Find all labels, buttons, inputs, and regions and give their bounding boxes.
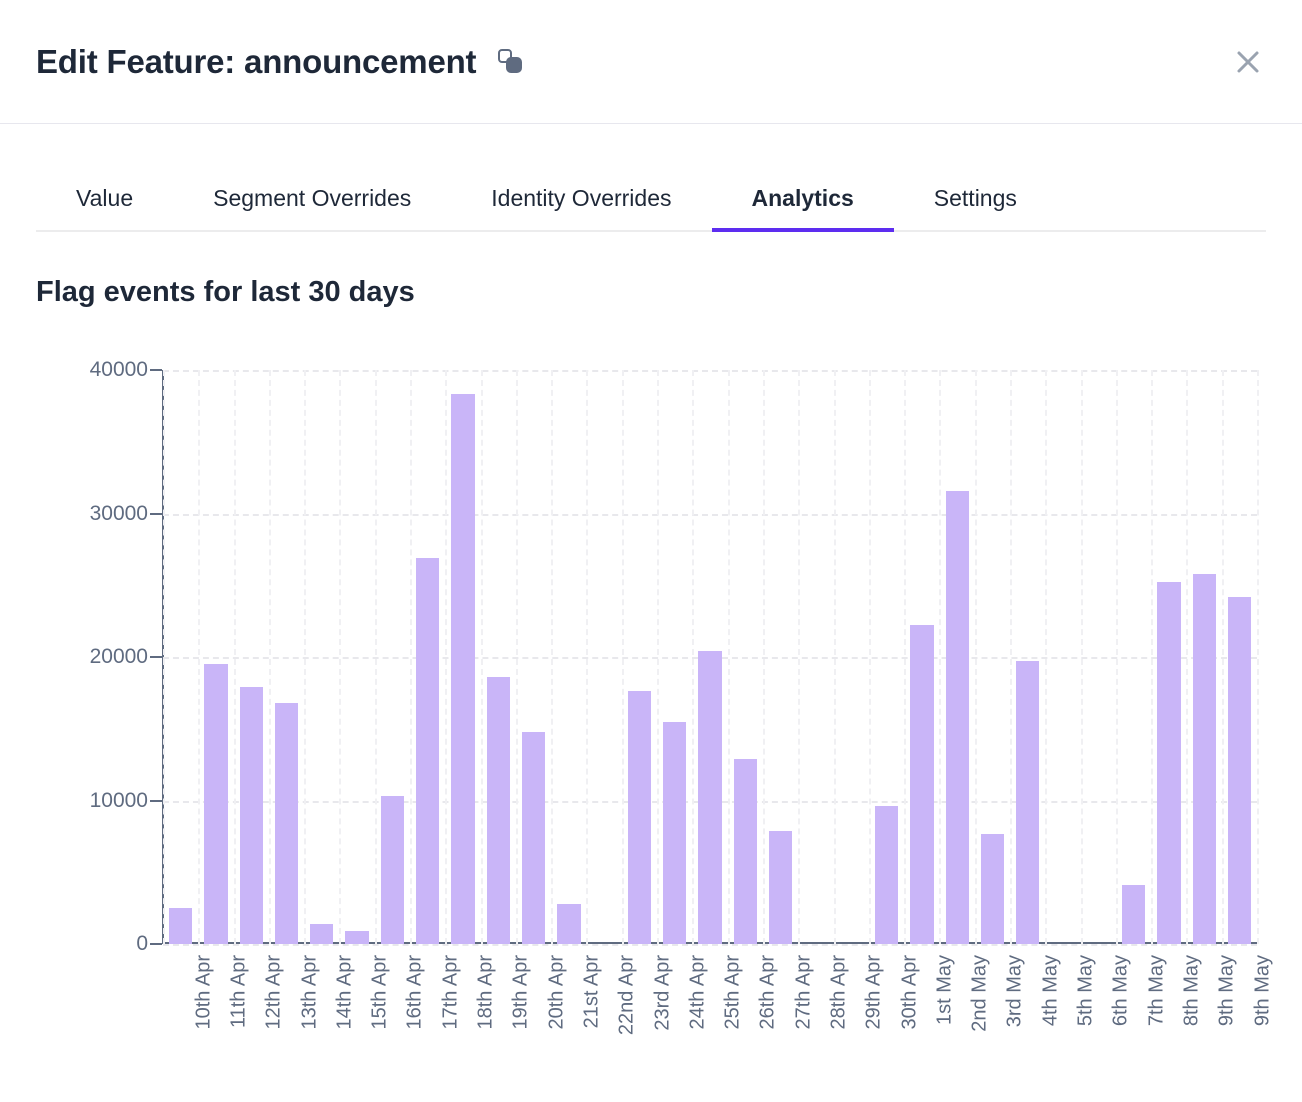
x-tick-slot: 4th May	[1010, 949, 1045, 1089]
bar-slot	[339, 370, 374, 944]
x-tick-slot: 9th May	[1222, 949, 1257, 1089]
x-tick-slot: 23rd Apr	[622, 949, 657, 1089]
x-tick-slot: 28th Apr	[798, 949, 833, 1089]
copy-icon-filled-square	[506, 57, 522, 73]
bar[interactable]	[169, 908, 192, 944]
x-tick-slot: 26th Apr	[728, 949, 763, 1089]
bar-slot	[481, 370, 516, 944]
x-tick-slot: 5th May	[1045, 949, 1080, 1089]
tab-segment-overrides[interactable]: Segment Overrides	[173, 185, 451, 230]
x-tick-slot: 24th Apr	[657, 949, 692, 1089]
bar[interactable]	[698, 651, 721, 944]
bar[interactable]	[663, 722, 686, 944]
x-tick-slot: 22nd Apr	[587, 949, 622, 1089]
gridline-horizontal	[163, 944, 1257, 946]
bar[interactable]	[1122, 885, 1145, 944]
x-tick-slot: 30th Apr	[869, 949, 904, 1089]
y-tick-mark	[150, 800, 162, 802]
x-tick-slot: 15th Apr	[339, 949, 374, 1089]
bar-slot	[234, 370, 269, 944]
bar-slot	[1010, 370, 1045, 944]
y-tick-mark	[150, 943, 162, 945]
y-tick-label: 0	[136, 932, 148, 956]
bar-slot	[516, 370, 551, 944]
tabs-strip: ValueSegment OverridesIdentity Overrides…	[36, 185, 1266, 232]
bar[interactable]	[310, 924, 333, 944]
bar-slot	[1222, 370, 1257, 944]
tab-value[interactable]: Value	[36, 185, 173, 230]
bar-slot	[940, 370, 975, 944]
bar-slot	[1081, 370, 1116, 944]
y-tick-mark	[150, 656, 162, 658]
bar-slot	[692, 370, 727, 944]
x-tick-slot: 11th Apr	[198, 949, 233, 1089]
x-tick-slot: 12th Apr	[234, 949, 269, 1089]
bar-slot	[622, 370, 657, 944]
bar[interactable]	[275, 703, 298, 944]
bar[interactable]	[522, 732, 545, 944]
bar-slot	[975, 370, 1010, 944]
bar-slot	[445, 370, 480, 944]
bar-slot	[869, 370, 904, 944]
x-tick-slot: 13th Apr	[269, 949, 304, 1089]
x-tick-label: 9th May	[1251, 955, 1274, 1026]
bar[interactable]	[1193, 574, 1216, 944]
x-tick-slot: 20th Apr	[516, 949, 551, 1089]
bar-slot	[1151, 370, 1186, 944]
modal-header: Edit Feature: announcement	[0, 0, 1302, 124]
bar-slot	[198, 370, 233, 944]
bar[interactable]	[345, 931, 368, 944]
x-tick-slot: 19th Apr	[481, 949, 516, 1089]
x-axis-tick-labels: 10th Apr11th Apr12th Apr13th Apr14th Apr…	[163, 949, 1257, 1089]
bar[interactable]	[734, 759, 757, 944]
y-tick-mark	[150, 513, 162, 515]
bar-slot	[410, 370, 445, 944]
bar-slot	[1116, 370, 1151, 944]
bar-slot	[1045, 370, 1080, 944]
x-tick-slot: 25th Apr	[692, 949, 727, 1089]
plot-area	[163, 370, 1257, 944]
bar-slot	[763, 370, 798, 944]
x-tick-slot: 3rd May	[975, 949, 1010, 1089]
tab-identity-overrides[interactable]: Identity Overrides	[451, 185, 711, 230]
x-tick-slot: 27th Apr	[763, 949, 798, 1089]
close-icon	[1233, 47, 1263, 77]
x-tick-slot: 21st Apr	[551, 949, 586, 1089]
x-tick-slot: 6th May	[1081, 949, 1116, 1089]
bar-slot	[904, 370, 939, 944]
bar-series	[163, 370, 1257, 944]
bar[interactable]	[240, 687, 263, 944]
gridline-vertical	[1257, 370, 1259, 944]
x-tick-slot: 17th Apr	[410, 949, 445, 1089]
page-title: Edit Feature: announcement	[36, 43, 476, 81]
bar[interactable]	[487, 677, 510, 944]
bar-slot	[798, 370, 833, 944]
y-tick-label: 40000	[90, 358, 148, 382]
bar-slot	[269, 370, 304, 944]
x-tick-slot: 10th Apr	[163, 949, 198, 1089]
bar[interactable]	[628, 691, 651, 944]
bar[interactable]	[381, 796, 404, 944]
bar-slot	[1187, 370, 1222, 944]
bar-slot	[163, 370, 198, 944]
bar[interactable]	[1157, 582, 1180, 944]
chart-title: Flag events for last 30 days	[36, 276, 1302, 309]
bar-slot	[587, 370, 622, 944]
bar[interactable]	[1016, 661, 1039, 944]
bar[interactable]	[204, 664, 227, 944]
x-tick-slot: 7th May	[1116, 949, 1151, 1089]
bar-slot	[657, 370, 692, 944]
x-tick-slot: 8th May	[1151, 949, 1186, 1089]
y-tick-label: 30000	[90, 502, 148, 526]
x-tick-slot: 1st May	[904, 949, 939, 1089]
bar[interactable]	[1228, 597, 1251, 944]
copy-icon[interactable]	[498, 49, 524, 75]
x-tick-slot: 18th Apr	[445, 949, 480, 1089]
title-wrap: Edit Feature: announcement	[36, 43, 524, 81]
y-tick-label: 10000	[90, 789, 148, 813]
bar[interactable]	[946, 491, 969, 944]
bar-slot	[728, 370, 763, 944]
tab-settings[interactable]: Settings	[894, 185, 1057, 230]
bar[interactable]	[981, 834, 1004, 944]
bar-slot	[375, 370, 410, 944]
bar[interactable]	[769, 831, 792, 944]
x-tick-slot: 14th Apr	[304, 949, 339, 1089]
x-tick-slot: 2nd May	[940, 949, 975, 1089]
bar[interactable]	[557, 904, 580, 944]
x-tick-slot: 9th May	[1187, 949, 1222, 1089]
y-tick-label: 20000	[90, 645, 148, 669]
tab-bar: ValueSegment OverridesIdentity Overrides…	[0, 124, 1302, 232]
bar[interactable]	[416, 558, 439, 944]
bar-slot	[304, 370, 339, 944]
bar-slot	[834, 370, 869, 944]
close-button[interactable]	[1228, 42, 1268, 82]
y-tick-mark	[150, 369, 162, 371]
tab-analytics[interactable]: Analytics	[712, 185, 894, 230]
bar-slot	[551, 370, 586, 944]
x-tick-slot: 16th Apr	[375, 949, 410, 1089]
flag-events-bar-chart: 010000200003000040000 10th Apr11th Apr12…	[0, 345, 1302, 1065]
bar[interactable]	[910, 625, 933, 944]
x-tick-slot: 29th Apr	[834, 949, 869, 1089]
bar[interactable]	[451, 394, 474, 944]
bar[interactable]	[875, 806, 898, 944]
